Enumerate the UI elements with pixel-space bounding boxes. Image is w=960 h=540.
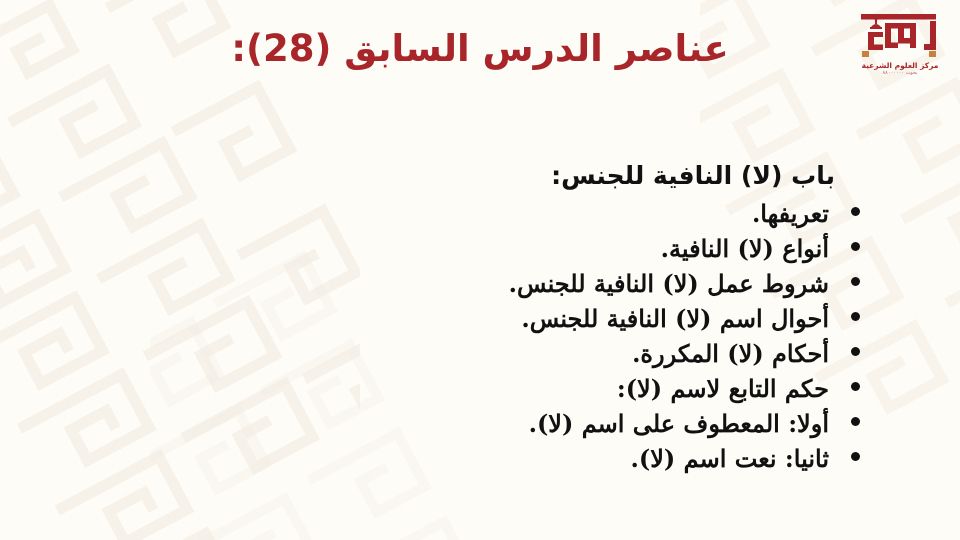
title-area: عناصر الدرس السابق (28): (0, 18, 960, 80)
list-item-label: أنواع (لا) النافية. (661, 231, 829, 266)
list-item: أحوال اسم (لا) النافية للجنس. (100, 301, 860, 336)
list-item-label: أحكام (لا) المكررة. (632, 336, 829, 371)
list-item-label: أولا: المعطوف على اسم (لا). (529, 406, 829, 441)
bullet-dot-icon (851, 382, 860, 391)
bullet-dot-icon (851, 207, 860, 216)
list-item-label: ثانيا: نعت اسم (لا). (631, 441, 829, 476)
list-item: أولا: المعطوف على اسم (لا). (100, 406, 860, 441)
lesson-elements-list: تعريفها. أنواع (لا) النافية. شروط عمل (ل… (100, 196, 860, 476)
list-item: تعريفها. (100, 196, 860, 231)
logo: مركز العلوم الشرعية بحوث ٨٨٠٠٠٠٠٠ (852, 12, 948, 88)
list-item: شروط عمل (لا) النافية للجنس. (100, 266, 860, 301)
bullet-dot-icon (851, 347, 860, 356)
content-area: باب (لا) النافية للجنس: تعريفها. أنواع (… (100, 160, 860, 476)
list-item-label: شروط عمل (لا) النافية للجنس. (509, 266, 829, 301)
ahkam-wordmark-icon (854, 12, 946, 60)
list-item: أنواع (لا) النافية. (100, 231, 860, 266)
slide-canvas: عناصر الدرس السابق (28): (0, 0, 960, 540)
bullet-dot-icon (851, 417, 860, 426)
list-item-label: تعريفها. (752, 196, 829, 231)
list-item: أحكام (لا) المكررة. (100, 336, 860, 371)
list-item-label: أحوال اسم (لا) النافية للجنس. (521, 301, 829, 336)
bullet-dot-icon (851, 277, 860, 286)
logo-subtitle: مركز العلوم الشرعية (852, 61, 948, 70)
list-item-label: حكم التابع لاسم (لا): (617, 371, 829, 406)
page-title: عناصر الدرس السابق (28): (231, 28, 728, 71)
bullet-dot-icon (851, 452, 860, 461)
bullet-dot-icon (851, 242, 860, 251)
section-heading: باب (لا) النافية للجنس: (100, 160, 835, 193)
list-item: حكم التابع لاسم (لا): (100, 371, 860, 406)
logo-subtitle-secondary: بحوث ٨٨٠٠٠٠٠٠ (852, 70, 948, 76)
list-item: ثانيا: نعت اسم (لا). (100, 441, 860, 476)
bullet-dot-icon (851, 312, 860, 321)
